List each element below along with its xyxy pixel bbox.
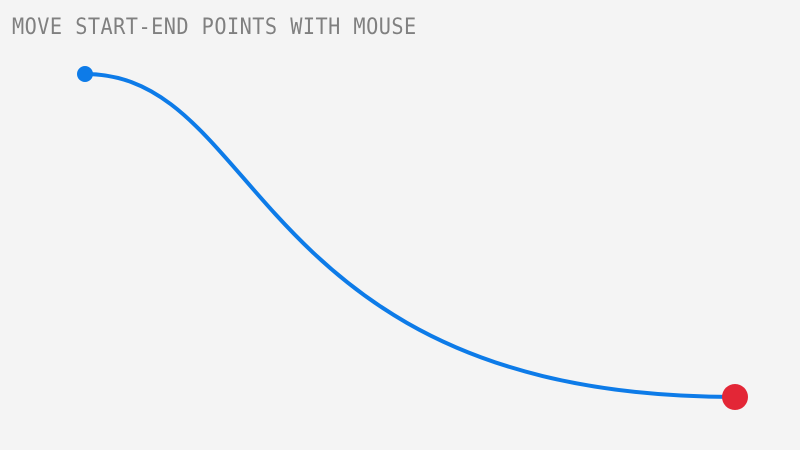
page-title: MOVE START-END POINTS WITH MOUSE <box>12 15 417 41</box>
start-handle[interactable] <box>77 66 93 82</box>
drawing-canvas[interactable] <box>0 0 800 450</box>
app-root: MOVE START-END POINTS WITH MOUSE <box>0 0 800 450</box>
curve-scene <box>0 0 800 450</box>
canvas-background <box>0 0 800 450</box>
end-handle[interactable] <box>722 384 748 410</box>
